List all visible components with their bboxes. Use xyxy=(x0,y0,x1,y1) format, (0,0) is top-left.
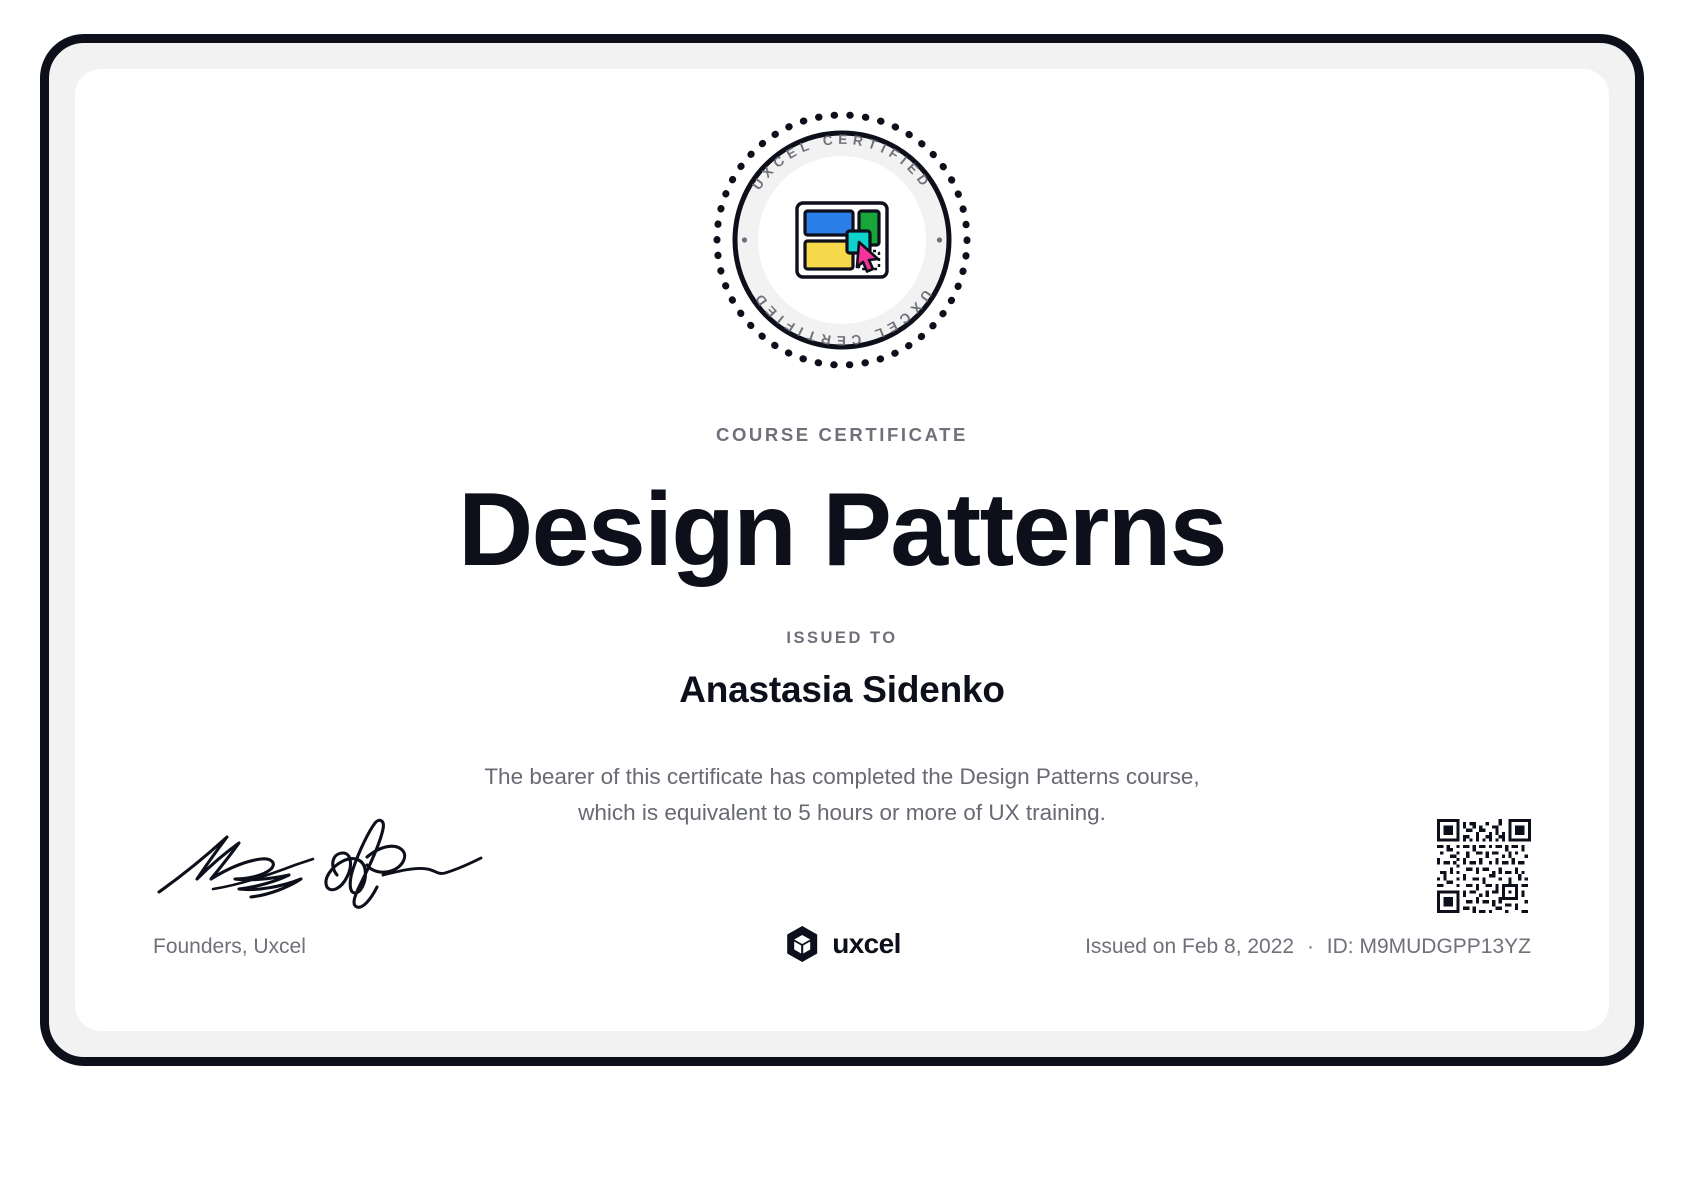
meta-separator: · xyxy=(1300,935,1321,958)
certificate-card: UXCEL CERTIFIED UXCEL CERTIFIED xyxy=(75,69,1609,1031)
certificate-kicker: COURSE CERTIFICATE xyxy=(75,424,1609,446)
issue-metadata: Issued on Feb 8, 2022 · ID: M9MUDGPP13YZ xyxy=(1085,935,1531,959)
certificate-id: ID: M9MUDGPP13YZ xyxy=(1327,935,1531,958)
course-title: Design Patterns xyxy=(75,474,1609,586)
issued-to-label: ISSUED TO xyxy=(75,629,1609,648)
design-patterns-layout-icon xyxy=(797,203,887,277)
verification-qr-code[interactable] xyxy=(1437,819,1531,913)
uxcel-brand-logo: uxcel xyxy=(783,925,901,963)
founders-label: Founders, Uxcel xyxy=(153,935,306,959)
issue-date: Issued on Feb 8, 2022 xyxy=(1085,935,1294,958)
certificate-frame: UXCEL CERTIFIED UXCEL CERTIFIED xyxy=(40,34,1644,1066)
certificate-body: The bearer of this certificate has compl… xyxy=(382,759,1302,832)
body-line-1: The bearer of this certificate has compl… xyxy=(484,764,1199,789)
body-line-2: which is equivalent to 5 hours or more o… xyxy=(578,800,1106,825)
seal-bullet-left xyxy=(742,237,747,242)
founders-signatures xyxy=(153,817,483,913)
uxcel-hexagon-cube-logo xyxy=(783,925,821,963)
recipient-name: Anastasia Sidenko xyxy=(75,669,1609,711)
uxcel-wordmark: uxcel xyxy=(832,928,901,960)
seal-bullet-right xyxy=(937,237,942,242)
uxcel-certified-seal: UXCEL CERTIFIED UXCEL CERTIFIED xyxy=(711,109,973,371)
